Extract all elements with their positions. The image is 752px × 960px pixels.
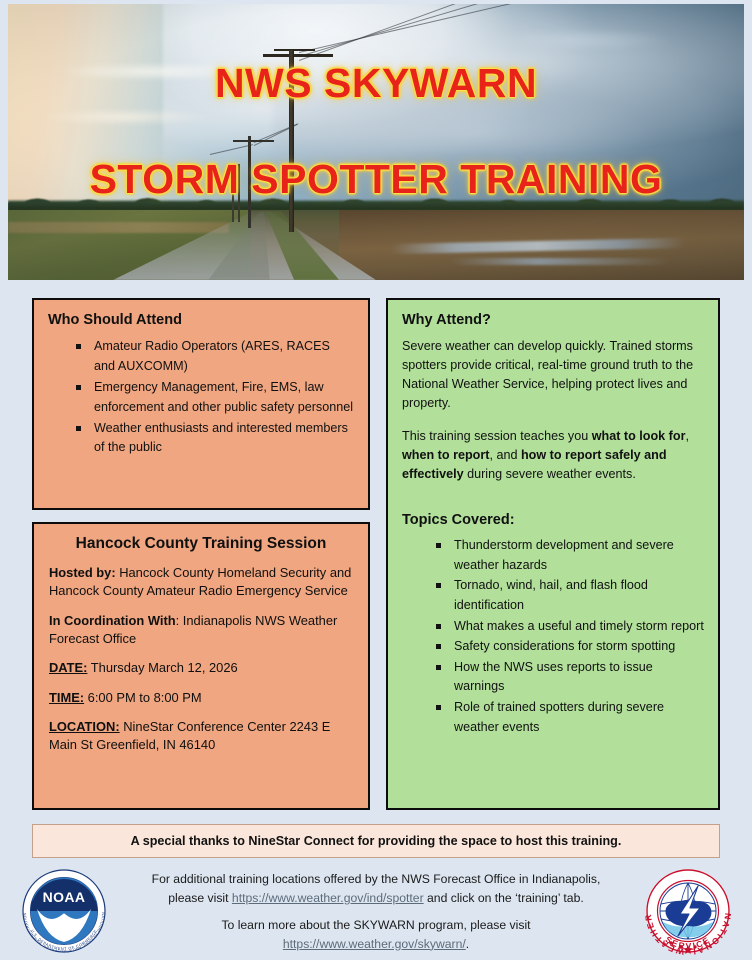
footer-line-3: To learn more about the SKYWARN program,… xyxy=(112,916,640,935)
session-detail-label: Hosted by: xyxy=(49,565,116,580)
footer-line-2-pre: please visit xyxy=(168,891,232,905)
utility-pole-crossarm xyxy=(233,140,274,142)
list-item: How the NWS uses reports to issue warnin… xyxy=(436,658,704,697)
who-should-attend-heading: Who Should Attend xyxy=(48,312,354,328)
body-text: , and xyxy=(489,448,521,462)
list-item: Thunderstorm development and severe weat… xyxy=(436,536,704,575)
emphasis-text: what to look for xyxy=(592,429,686,443)
topics-covered-heading: Topics Covered: xyxy=(402,512,704,528)
list-item: Emergency Management, Fire, EMS, law enf… xyxy=(76,378,354,418)
list-item: Safety considerations for storm spotting xyxy=(436,637,704,657)
who-should-attend-list: Amateur Radio Operators (ARES, RACES and… xyxy=(76,337,354,458)
spotter-page-link[interactable]: https://www.weather.gov/ind/spotter xyxy=(232,891,424,905)
session-detail-label: DATE: xyxy=(49,660,87,675)
session-detail-value: Thursday March 12, 2026 xyxy=(87,660,237,675)
nws-logo-icon: NATIONAL WEATHER SERVICE xyxy=(640,864,736,956)
cloud-wisp-icon xyxy=(450,26,700,54)
training-session-heading: Hancock County Training Session xyxy=(49,535,353,553)
who-should-attend-panel: Who Should Attend Amateur Radio Operator… xyxy=(32,298,370,510)
why-attend-paragraph-1: Severe weather can develop quickly. Trai… xyxy=(402,337,704,414)
session-detail-row: TIME: 6:00 PM to 8:00 PM xyxy=(49,689,353,707)
training-session-panel: Hancock County Training Session Hosted b… xyxy=(32,522,370,810)
session-detail-label: In Coordination With xyxy=(49,613,176,628)
footer: NOAA NATIONAL OCEANIC AND ATMOSPHERIC AD… xyxy=(16,864,736,956)
why-attend-paragraph-2: This training session teaches you what t… xyxy=(402,427,704,484)
list-item: Amateur Radio Operators (ARES, RACES and… xyxy=(76,337,354,377)
footer-text-block: For additional training locations offere… xyxy=(112,864,640,953)
noaa-logo-icon: NOAA NATIONAL OCEANIC AND ATMOSPHERIC AD… xyxy=(16,864,112,956)
body-text: during severe weather events. xyxy=(464,467,636,481)
body-text: This training session teaches you xyxy=(402,429,592,443)
session-detail-label: LOCATION: xyxy=(49,719,120,734)
utility-pole-crossarm xyxy=(274,49,314,51)
list-item: Weather enthusiasts and interested membe… xyxy=(76,419,354,459)
footer-line-4: https://www.weather.gov/skywarn/. xyxy=(112,935,640,954)
session-detail-row: Hosted by: Hancock County Homeland Secur… xyxy=(49,564,353,601)
cloud-wisp-icon xyxy=(15,106,236,128)
session-detail-row: LOCATION: NineStar Conference Center 224… xyxy=(49,718,353,755)
skywarn-page-link[interactable]: https://www.weather.gov/skywarn/ xyxy=(283,937,466,951)
training-session-details: Hosted by: Hancock County Homeland Secur… xyxy=(49,564,353,755)
list-item: What makes a useful and timely storm rep… xyxy=(436,617,704,637)
hero-title-line-2: STORM SPOTTER TRAINING xyxy=(8,156,744,203)
session-detail-row: DATE: Thursday March 12, 2026 xyxy=(49,659,353,677)
session-detail-value: 6:00 PM to 8:00 PM xyxy=(84,690,202,705)
utility-pole-crossarm xyxy=(263,54,333,57)
session-detail-label: TIME: xyxy=(49,690,84,705)
body-text: , xyxy=(685,429,689,443)
hero-title-line-1: NWS SKYWARN xyxy=(8,60,744,107)
grass-field-strip xyxy=(8,222,229,233)
list-item: Tornado, wind, hail, and flash flood ide… xyxy=(436,576,704,615)
footer-line-2-post: and click on the ‘training’ tab. xyxy=(424,891,584,905)
skywarn-training-flyer: NWS SKYWARN STORM SPOTTER TRAINING Who S… xyxy=(0,0,752,960)
session-detail-row: In Coordination With: Indianapolis NWS W… xyxy=(49,612,353,649)
hero-storm-photo: NWS SKYWARN STORM SPOTTER TRAINING xyxy=(8,4,744,280)
special-thanks-text: A special thanks to NineStar Connect for… xyxy=(131,834,622,848)
special-thanks-banner: A special thanks to NineStar Connect for… xyxy=(32,824,720,858)
footer-line-2: please visit https://www.weather.gov/ind… xyxy=(112,889,640,908)
topics-covered-list: Thunderstorm development and severe weat… xyxy=(436,536,704,737)
list-item: Role of trained spotters during severe w… xyxy=(436,698,704,737)
emphasis-text: when to report xyxy=(402,448,489,462)
footer-line-4-post: . xyxy=(466,937,469,951)
footer-spacer xyxy=(112,907,640,916)
svg-text:NOAA: NOAA xyxy=(43,889,86,905)
field-water-streak xyxy=(450,258,671,265)
why-attend-panel: Why Attend? Severe weather can develop q… xyxy=(386,298,720,810)
footer-line-1: For additional training locations offere… xyxy=(112,870,640,889)
why-attend-heading: Why Attend? xyxy=(402,312,704,328)
